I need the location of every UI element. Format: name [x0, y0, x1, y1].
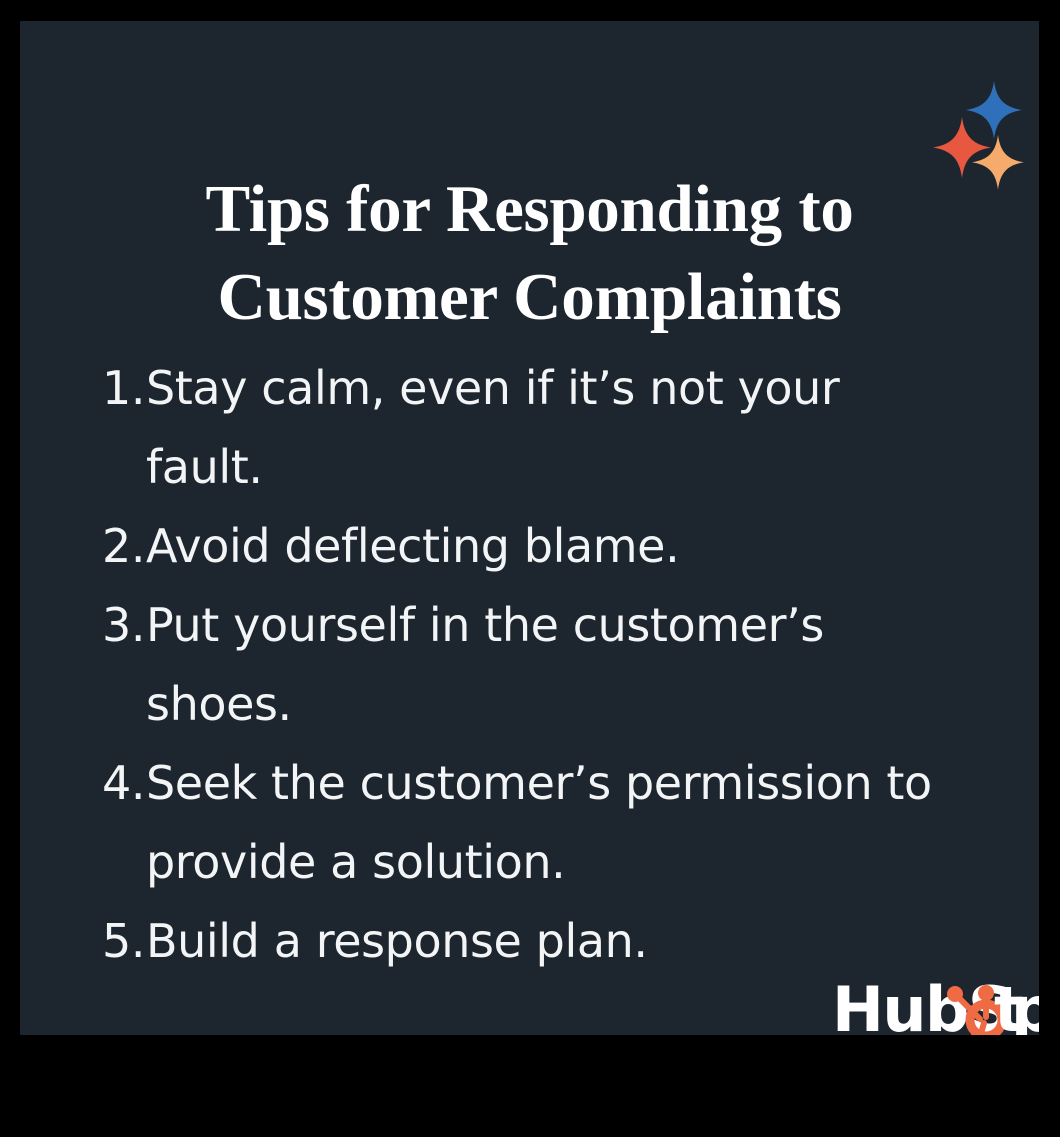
hubspot-logo: HubSp t — [814, 973, 1029, 1035]
page-title: Tips for Responding to Customer Complain… — [20, 66, 1039, 341]
hubspot-wordmark-end: t — [994, 973, 1022, 1035]
list-item: 2. Avoid deflecting blame. — [102, 507, 1002, 586]
tips-card: Tips for Responding to Customer Complain… — [20, 21, 1039, 1035]
list-item-number: 4. — [102, 744, 146, 823]
list-item-text: Seek the customer’s permission to provid… — [146, 744, 966, 902]
list-item-text: Stay calm, even if it’s not your fault. — [146, 349, 966, 507]
list-item: 5. Build a response plan. — [102, 902, 1002, 981]
list-item-number: 1. — [102, 349, 146, 428]
list-item-text: Avoid deflecting blame. — [146, 507, 966, 586]
list-item-number: 2. — [102, 507, 146, 586]
list-item: 3. Put yourself in the customer’s shoes. — [102, 586, 1002, 744]
list-item: 4. Seek the customer’s permission to pro… — [102, 744, 1002, 902]
list-item: 1. Stay calm, even if it’s not your faul… — [102, 349, 1002, 507]
list-item-number: 5. — [102, 902, 146, 981]
list-item-text: Put yourself in the customer’s shoes. — [146, 586, 966, 744]
tips-list: 1. Stay calm, even if it’s not your faul… — [102, 349, 1002, 981]
list-item-number: 3. — [102, 586, 146, 665]
list-item-text: Build a response plan. — [146, 902, 966, 981]
screenshot-canvas: Tips for Responding to Customer Complain… — [0, 0, 1060, 1137]
